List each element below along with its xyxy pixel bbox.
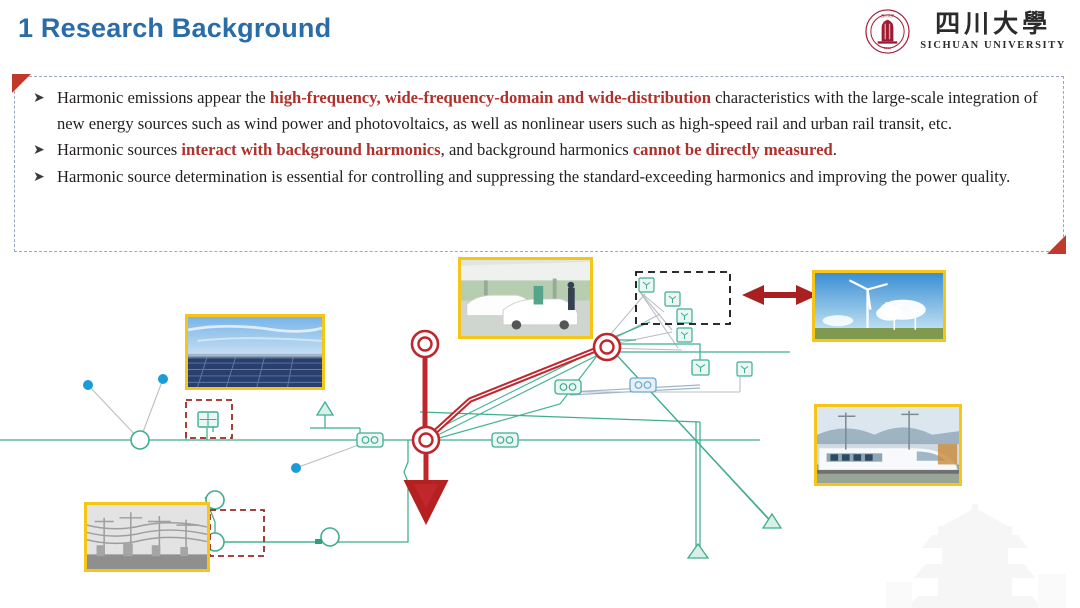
pivotal-substation-node <box>594 334 620 360</box>
svg-text:四川大学: 四川大学 <box>881 13 895 18</box>
bullet-item: ➤Harmonic source determination is essent… <box>31 164 1051 190</box>
bullet-arrow-icon: ➤ <box>33 86 45 112</box>
university-logo: 四川大学 1896 四川大學 SICHUAN UNIVERSITY <box>864 8 1066 55</box>
photovoltaic-plant-icon <box>198 412 218 427</box>
photovoltaic-plant-photo <box>185 314 325 390</box>
slide-canvas: 1 Research Background 四川大学 1896 四川大學 SIC… <box>0 0 1080 608</box>
logo-english-name: SICHUAN UNIVERSITY <box>920 40 1066 51</box>
power-grid-diagram: Pivotal Substation/Significant Substatio… <box>0 252 1080 608</box>
bullet-highlight-text: high-frequency, wide-frequency-domain an… <box>270 88 711 107</box>
bullet-highlight-text: interact with background harmonics <box>181 140 440 159</box>
wind-link-double-arrow <box>742 285 818 305</box>
harmonic-flow-arrow <box>414 484 438 508</box>
panel-corner-top-left <box>12 74 31 93</box>
pivotal-substation-node <box>413 427 439 453</box>
bullet-text: Harmonic source determination is essenti… <box>57 167 1010 186</box>
bullet-item: ➤Harmonic sources interact with backgrou… <box>31 137 1051 163</box>
substation-photo <box>84 502 210 572</box>
pivotal-substation-node <box>412 331 438 357</box>
university-seal-icon: 四川大学 1896 <box>864 8 911 55</box>
wind-farm-photo <box>812 270 946 342</box>
ev-charging-station-photo <box>458 257 593 339</box>
line-switch-marker <box>315 539 322 544</box>
bullet-item: ➤Harmonic emissions appear the high-freq… <box>31 85 1051 136</box>
high-speed-train-photo <box>814 404 962 486</box>
bullet-arrow-icon: ➤ <box>33 165 45 191</box>
content-panel: ➤Harmonic emissions appear the high-freq… <box>14 76 1064 252</box>
svg-text:1896: 1896 <box>884 46 892 50</box>
bullet-text: . <box>833 140 837 159</box>
logo-chinese-name: 四川大學 <box>935 12 1051 37</box>
bullet-arrow-icon: ➤ <box>33 138 45 164</box>
bullet-text: Harmonic emissions appear the <box>57 88 270 107</box>
bullet-text: Harmonic sources <box>57 140 181 159</box>
bullet-highlight-text: cannot be directly measured <box>633 140 833 159</box>
bullet-list: ➤Harmonic emissions appear the high-freq… <box>31 85 1051 190</box>
page-title: 1 Research Background <box>18 13 331 44</box>
bullet-text: , and background harmonics <box>441 140 633 159</box>
